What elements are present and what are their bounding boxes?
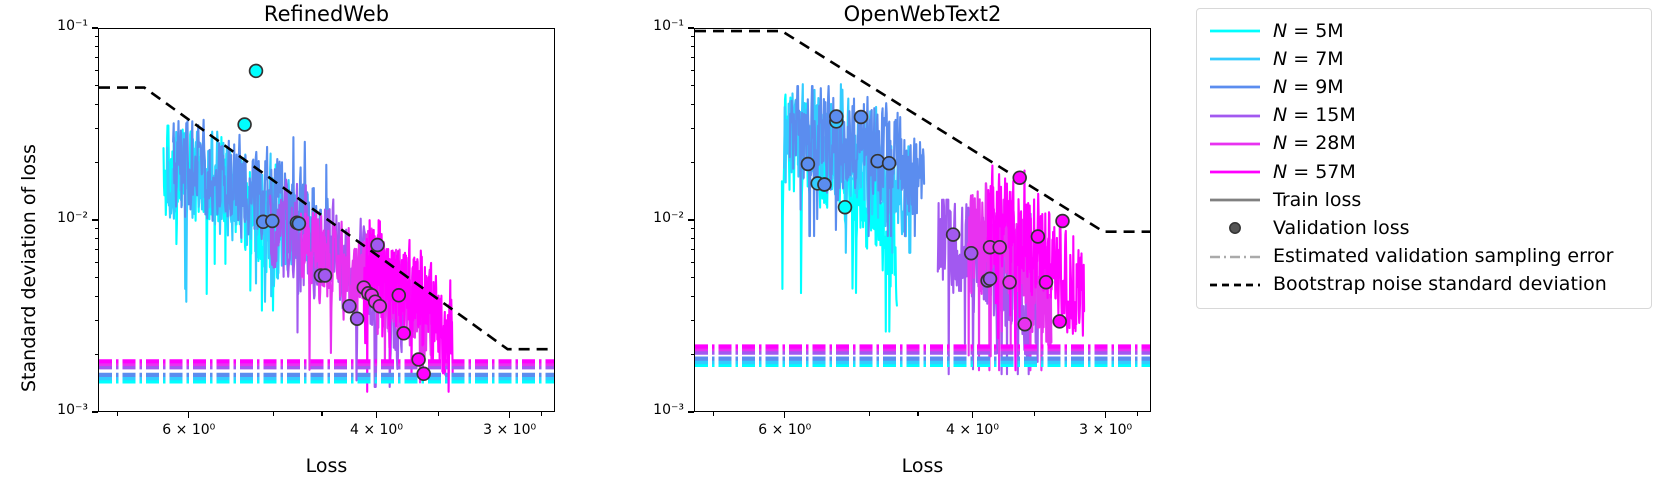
legend-label: N = 7M bbox=[1273, 50, 1344, 69]
validation-loss-point bbox=[1053, 315, 1066, 328]
panel-openwebtext2: OpenWebText2 Loss 10⁻¹10⁻²10⁻³6 × 10⁰4 ×… bbox=[596, 0, 1196, 496]
legend-label: N = 28M bbox=[1273, 134, 1356, 153]
legend-swatch-marker-icon bbox=[1207, 218, 1263, 238]
validation-loss-point bbox=[343, 300, 356, 313]
legend-label: N = 57M bbox=[1273, 163, 1356, 182]
validation-loss-point bbox=[830, 110, 843, 123]
x-tick-mark bbox=[972, 412, 973, 418]
validation-loss-point bbox=[855, 111, 868, 124]
plot-canvas bbox=[695, 29, 1151, 412]
validation-loss-point bbox=[871, 155, 884, 168]
y-minor-tick bbox=[95, 320, 99, 321]
legend-swatch bbox=[1207, 247, 1263, 267]
validation-loss-point bbox=[351, 312, 364, 325]
validation-loss-point bbox=[965, 247, 978, 260]
x-minor-tick bbox=[273, 412, 274, 416]
validation-loss-point bbox=[839, 201, 852, 214]
legend-swatch-line-icon bbox=[1207, 21, 1263, 41]
legend-swatch-dashed-icon bbox=[1207, 275, 1263, 295]
x-axis-label: Loss bbox=[694, 455, 1151, 477]
panel-refinedweb: RefinedWeb Standard deviation of loss Lo… bbox=[0, 0, 600, 496]
y-minor-tick bbox=[691, 277, 695, 278]
y-minor-tick bbox=[95, 296, 99, 297]
legend-swatch-line-icon bbox=[1207, 190, 1263, 210]
validation-loss-point bbox=[1056, 215, 1069, 228]
y-tick-label: 10⁻² bbox=[32, 210, 88, 226]
x-tick-label: 6 × 10⁰ bbox=[139, 422, 239, 438]
validation-loss-point bbox=[373, 300, 386, 313]
legend-swatch bbox=[1207, 77, 1263, 97]
panel-title: OpenWebText2 bbox=[694, 2, 1151, 26]
legend-swatch bbox=[1207, 162, 1263, 182]
y-minor-tick bbox=[691, 128, 695, 129]
validation-loss-point bbox=[883, 157, 896, 170]
y-axis-label: Standard deviation of loss bbox=[18, 144, 40, 392]
legend-swatch-dashdot-icon bbox=[1207, 247, 1263, 267]
validation-loss-point bbox=[947, 228, 960, 241]
x-minor-tick bbox=[541, 412, 542, 416]
validation-loss-point bbox=[802, 158, 815, 171]
panel-title: RefinedWeb bbox=[98, 2, 555, 26]
y-tick-label: 10⁻¹ bbox=[628, 18, 684, 34]
y-minor-tick bbox=[691, 36, 695, 37]
y-minor-tick bbox=[95, 70, 99, 71]
y-minor-tick bbox=[691, 57, 695, 58]
y-minor-tick bbox=[691, 104, 695, 105]
y-minor-tick bbox=[691, 238, 695, 239]
y-tick-label: 10⁻³ bbox=[628, 402, 684, 418]
legend-item[interactable]: Train loss bbox=[1207, 186, 1641, 214]
legend-label: N = 9M bbox=[1273, 78, 1344, 97]
y-minor-tick bbox=[95, 228, 99, 229]
x-tick-label: 3 × 10⁰ bbox=[460, 422, 560, 438]
legend-item[interactable]: N = 7M bbox=[1207, 45, 1641, 73]
y-minor-tick bbox=[691, 262, 695, 263]
y-minor-tick bbox=[95, 46, 99, 47]
validation-loss-point bbox=[293, 217, 306, 230]
plot-area bbox=[98, 28, 555, 412]
legend-item[interactable]: Validation loss bbox=[1207, 214, 1641, 242]
y-tick-mark bbox=[688, 27, 694, 28]
legend-item[interactable]: N = 28M bbox=[1207, 130, 1641, 158]
y-minor-tick bbox=[95, 354, 99, 355]
x-minor-tick bbox=[438, 412, 439, 416]
y-tick-label: 10⁻³ bbox=[32, 402, 88, 418]
legend-item[interactable]: Bootstrap noise standard deviation bbox=[1207, 271, 1641, 299]
y-minor-tick bbox=[95, 57, 99, 58]
bootstrap-noise-line bbox=[695, 31, 1151, 232]
legend-item[interactable]: Estimated validation sampling error bbox=[1207, 243, 1641, 271]
validation-loss-point bbox=[1013, 171, 1026, 184]
y-tick-mark bbox=[92, 411, 98, 412]
x-tick-mark bbox=[784, 412, 785, 418]
x-tick-mark bbox=[509, 412, 510, 418]
legend-label: N = 5M bbox=[1273, 22, 1344, 41]
y-minor-tick bbox=[95, 85, 99, 86]
validation-loss-point bbox=[1032, 230, 1045, 243]
plot-canvas bbox=[99, 29, 555, 412]
x-tick-label: 3 × 10⁰ bbox=[1056, 422, 1156, 438]
y-minor-tick bbox=[95, 262, 99, 263]
legend-item[interactable]: N = 9M bbox=[1207, 73, 1641, 101]
y-minor-tick bbox=[95, 36, 99, 37]
legend-swatch-line-icon bbox=[1207, 162, 1263, 182]
legend-swatch bbox=[1207, 106, 1263, 126]
validation-loss-point bbox=[984, 272, 997, 285]
validation-loss-point bbox=[818, 178, 831, 191]
x-minor-tick bbox=[1034, 412, 1035, 416]
x-minor-tick bbox=[713, 412, 714, 416]
validation-loss-point bbox=[1040, 276, 1053, 289]
x-axis-label: Loss bbox=[98, 455, 555, 477]
x-minor-tick bbox=[117, 412, 118, 416]
x-tick-label: 6 × 10⁰ bbox=[735, 422, 835, 438]
y-tick-label: 10⁻² bbox=[628, 210, 684, 226]
validation-loss-point bbox=[238, 118, 251, 131]
legend-swatch bbox=[1207, 49, 1263, 69]
legend-swatch bbox=[1207, 275, 1263, 295]
y-tick-mark bbox=[92, 219, 98, 220]
y-minor-tick bbox=[691, 162, 695, 163]
y-minor-tick bbox=[691, 228, 695, 229]
legend-label: Train loss bbox=[1273, 191, 1361, 210]
y-minor-tick bbox=[691, 85, 695, 86]
x-minor-tick bbox=[917, 412, 918, 416]
legend-label: Bootstrap noise standard deviation bbox=[1273, 275, 1607, 294]
legend-label: Estimated validation sampling error bbox=[1273, 247, 1613, 266]
legend-swatch bbox=[1207, 190, 1263, 210]
validation-loss-point bbox=[250, 65, 263, 78]
y-minor-tick bbox=[691, 249, 695, 250]
legend-swatch-line-icon bbox=[1207, 49, 1263, 69]
y-minor-tick bbox=[95, 128, 99, 129]
legend-swatch bbox=[1207, 134, 1263, 154]
y-tick-mark bbox=[688, 219, 694, 220]
y-minor-tick bbox=[95, 277, 99, 278]
validation-loss-point bbox=[412, 353, 425, 366]
validation-loss-point bbox=[1003, 276, 1016, 289]
validation-loss-point bbox=[1018, 318, 1031, 331]
legend-swatch bbox=[1207, 218, 1263, 238]
x-tick-label: 4 × 10⁰ bbox=[922, 422, 1022, 438]
legend-swatch-line-icon bbox=[1207, 77, 1263, 97]
y-tick-mark bbox=[688, 411, 694, 412]
legend-swatch-line-icon bbox=[1207, 134, 1263, 154]
legend-item[interactable]: N = 15M bbox=[1207, 102, 1641, 130]
legend-item[interactable]: N = 57M bbox=[1207, 158, 1641, 186]
y-minor-tick bbox=[95, 238, 99, 239]
x-tick-label: 4 × 10⁰ bbox=[326, 422, 426, 438]
validation-loss-point bbox=[371, 239, 384, 252]
y-minor-tick bbox=[691, 320, 695, 321]
y-minor-tick bbox=[95, 162, 99, 163]
validation-loss-point bbox=[392, 289, 405, 302]
y-minor-tick bbox=[691, 296, 695, 297]
legend-label: N = 15M bbox=[1273, 106, 1356, 125]
x-tick-mark bbox=[188, 412, 189, 418]
y-minor-tick bbox=[691, 46, 695, 47]
x-tick-mark bbox=[376, 412, 377, 418]
y-minor-tick bbox=[691, 354, 695, 355]
legend: N = 5MN = 7MN = 9MN = 15MN = 28MN = 57MT… bbox=[1196, 8, 1652, 309]
legend-label: Validation loss bbox=[1273, 219, 1410, 238]
y-minor-tick bbox=[95, 249, 99, 250]
y-tick-mark bbox=[92, 27, 98, 28]
plot-area bbox=[694, 28, 1151, 412]
validation-loss-point bbox=[319, 269, 332, 282]
legend-item[interactable]: N = 5M bbox=[1207, 17, 1641, 45]
legend-swatch-line-icon bbox=[1207, 106, 1263, 126]
y-tick-label: 10⁻¹ bbox=[32, 18, 88, 34]
x-minor-tick bbox=[869, 412, 870, 416]
figure-root: RefinedWeb Standard deviation of loss Lo… bbox=[0, 0, 1661, 496]
validation-loss-point bbox=[397, 327, 410, 340]
legend-swatch bbox=[1207, 21, 1263, 41]
x-minor-tick bbox=[1137, 412, 1138, 416]
x-tick-mark bbox=[1105, 412, 1106, 418]
y-minor-tick bbox=[691, 70, 695, 71]
validation-loss-point bbox=[993, 241, 1006, 254]
y-minor-tick bbox=[95, 104, 99, 105]
validation-loss-point bbox=[266, 215, 279, 228]
validation-loss-point bbox=[417, 367, 430, 380]
x-minor-tick bbox=[321, 412, 322, 416]
